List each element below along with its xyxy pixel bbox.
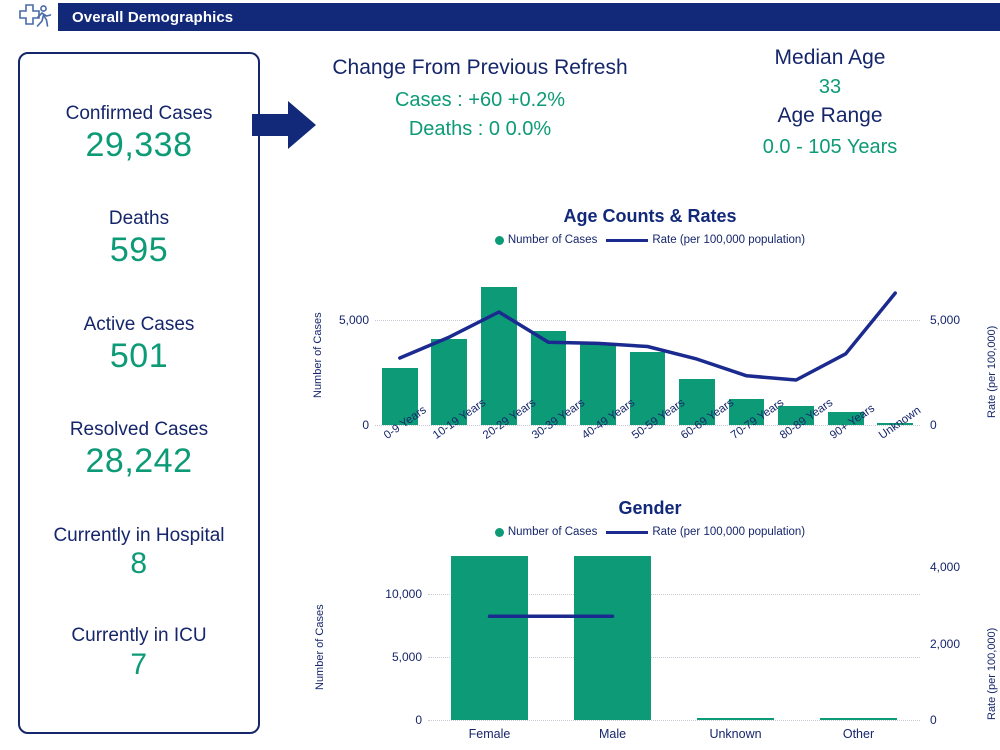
- age-range-label: Age Range: [680, 104, 980, 128]
- legend-line-icon: [606, 531, 648, 534]
- legend-dot-icon: [495, 236, 504, 245]
- stat-resolved-cases: Resolved Cases 28,242: [70, 419, 208, 482]
- stat-label: Resolved Cases: [70, 419, 208, 441]
- medical-cross-runner-icon: [16, 2, 56, 34]
- stat-value: 29,338: [66, 125, 213, 166]
- rate-line-series: [428, 556, 920, 720]
- stat-label: Active Cases: [84, 314, 195, 336]
- x-axis-label: Unknown: [674, 727, 797, 741]
- stat-label: Currently in ICU: [71, 625, 206, 647]
- x-axis-label: Male: [551, 727, 674, 741]
- stat-label: Currently in Hospital: [53, 525, 224, 547]
- y-axis-tick-left: 5,000: [366, 650, 422, 664]
- change-title: Change From Previous Refresh: [310, 56, 650, 80]
- stat-value: 28,242: [70, 441, 208, 482]
- gender-plot-area: 05,00010,00002,0004,000FemaleMaleUnknown…: [428, 556, 920, 720]
- legend-label: Number of Cases: [508, 234, 597, 246]
- y-axis-tick-left: 5,000: [313, 313, 369, 327]
- median-age-label: Median Age: [680, 46, 980, 70]
- legend-label: Rate (per 100,000 population): [652, 234, 805, 246]
- legend-label: Number of Cases: [508, 526, 597, 538]
- rate-line-series: [375, 268, 920, 425]
- legend-item-cases: Number of Cases: [495, 526, 597, 538]
- stat-label: Deaths: [109, 208, 169, 230]
- x-axis-label: Female: [428, 727, 551, 741]
- legend-dot-icon: [495, 528, 504, 537]
- stat-active-cases: Active Cases 501: [84, 314, 195, 377]
- change-from-previous-refresh: Change From Previous Refresh Cases : +60…: [310, 56, 650, 141]
- y-axis-title-left: Number of Cases: [314, 560, 326, 690]
- legend-label: Rate (per 100,000 population): [652, 526, 805, 538]
- gridline: [428, 720, 920, 721]
- stat-label: Confirmed Cases: [66, 103, 213, 125]
- stat-confirmed-cases: Confirmed Cases 29,338: [66, 103, 213, 166]
- chart-title: Gender: [300, 498, 1000, 519]
- age-counts-rates-chart: Age Counts & Rates Number of Cases Rate …: [300, 206, 1000, 491]
- y-axis-tick-right: 4,000: [930, 560, 986, 574]
- median-age-value: 33: [680, 76, 980, 99]
- y-axis-title-right: Rate (per 100,000): [986, 570, 998, 720]
- page-header: Overall Demographics: [0, 0, 1000, 36]
- header-title-band: Overall Demographics: [58, 3, 1000, 31]
- chart-legend: Number of Cases Rate (per 100,000 popula…: [300, 234, 1000, 246]
- y-axis-tick-left: 0: [313, 418, 369, 432]
- stat-value: 8: [53, 546, 224, 582]
- legend-item-rate: Rate (per 100,000 population): [606, 234, 805, 246]
- age-plot-area: 05,00005,0000-9 Years10-19 Years20-29 Ye…: [375, 268, 920, 425]
- age-range-value: 0.0 - 105 Years: [680, 136, 980, 159]
- y-axis-tick-right: 2,000: [930, 637, 986, 651]
- stat-deaths: Deaths 595: [109, 208, 169, 271]
- stat-currently-in-hospital: Currently in Hospital 8: [53, 525, 224, 583]
- gender-chart: Gender Number of Cases Rate (per 100,000…: [300, 498, 1000, 748]
- legend-item-rate: Rate (per 100,000 population): [606, 526, 805, 538]
- y-axis-tick-right: 0: [930, 713, 986, 727]
- stat-value: 7: [71, 647, 206, 683]
- y-axis-title-left: Number of Cases: [312, 268, 324, 398]
- stat-currently-in-icu: Currently in ICU 7: [71, 625, 206, 683]
- legend-line-icon: [606, 239, 648, 242]
- y-axis-tick-right: 0: [930, 418, 986, 432]
- y-axis-tick-right: 5,000: [930, 313, 986, 327]
- change-deaths: Deaths : 0 0.0%: [310, 118, 650, 141]
- change-cases: Cases : +60 +0.2%: [310, 89, 650, 112]
- y-axis-title-right: Rate (per 100,000): [986, 268, 998, 418]
- x-axis-label: Other: [797, 727, 920, 741]
- summary-stats-card: Confirmed Cases 29,338 Deaths 595 Active…: [18, 52, 260, 734]
- median-age-block: Median Age 33 Age Range 0.0 - 105 Years: [680, 46, 980, 159]
- right-arrow-icon: [252, 98, 318, 152]
- y-axis-tick-left: 10,000: [366, 587, 422, 601]
- stat-value: 501: [84, 336, 195, 377]
- page-title: Overall Demographics: [72, 9, 233, 26]
- y-axis-tick-left: 0: [366, 713, 422, 727]
- chart-title: Age Counts & Rates: [300, 206, 1000, 227]
- legend-item-cases: Number of Cases: [495, 234, 597, 246]
- stat-value: 595: [109, 230, 169, 271]
- chart-legend: Number of Cases Rate (per 100,000 popula…: [300, 526, 1000, 538]
